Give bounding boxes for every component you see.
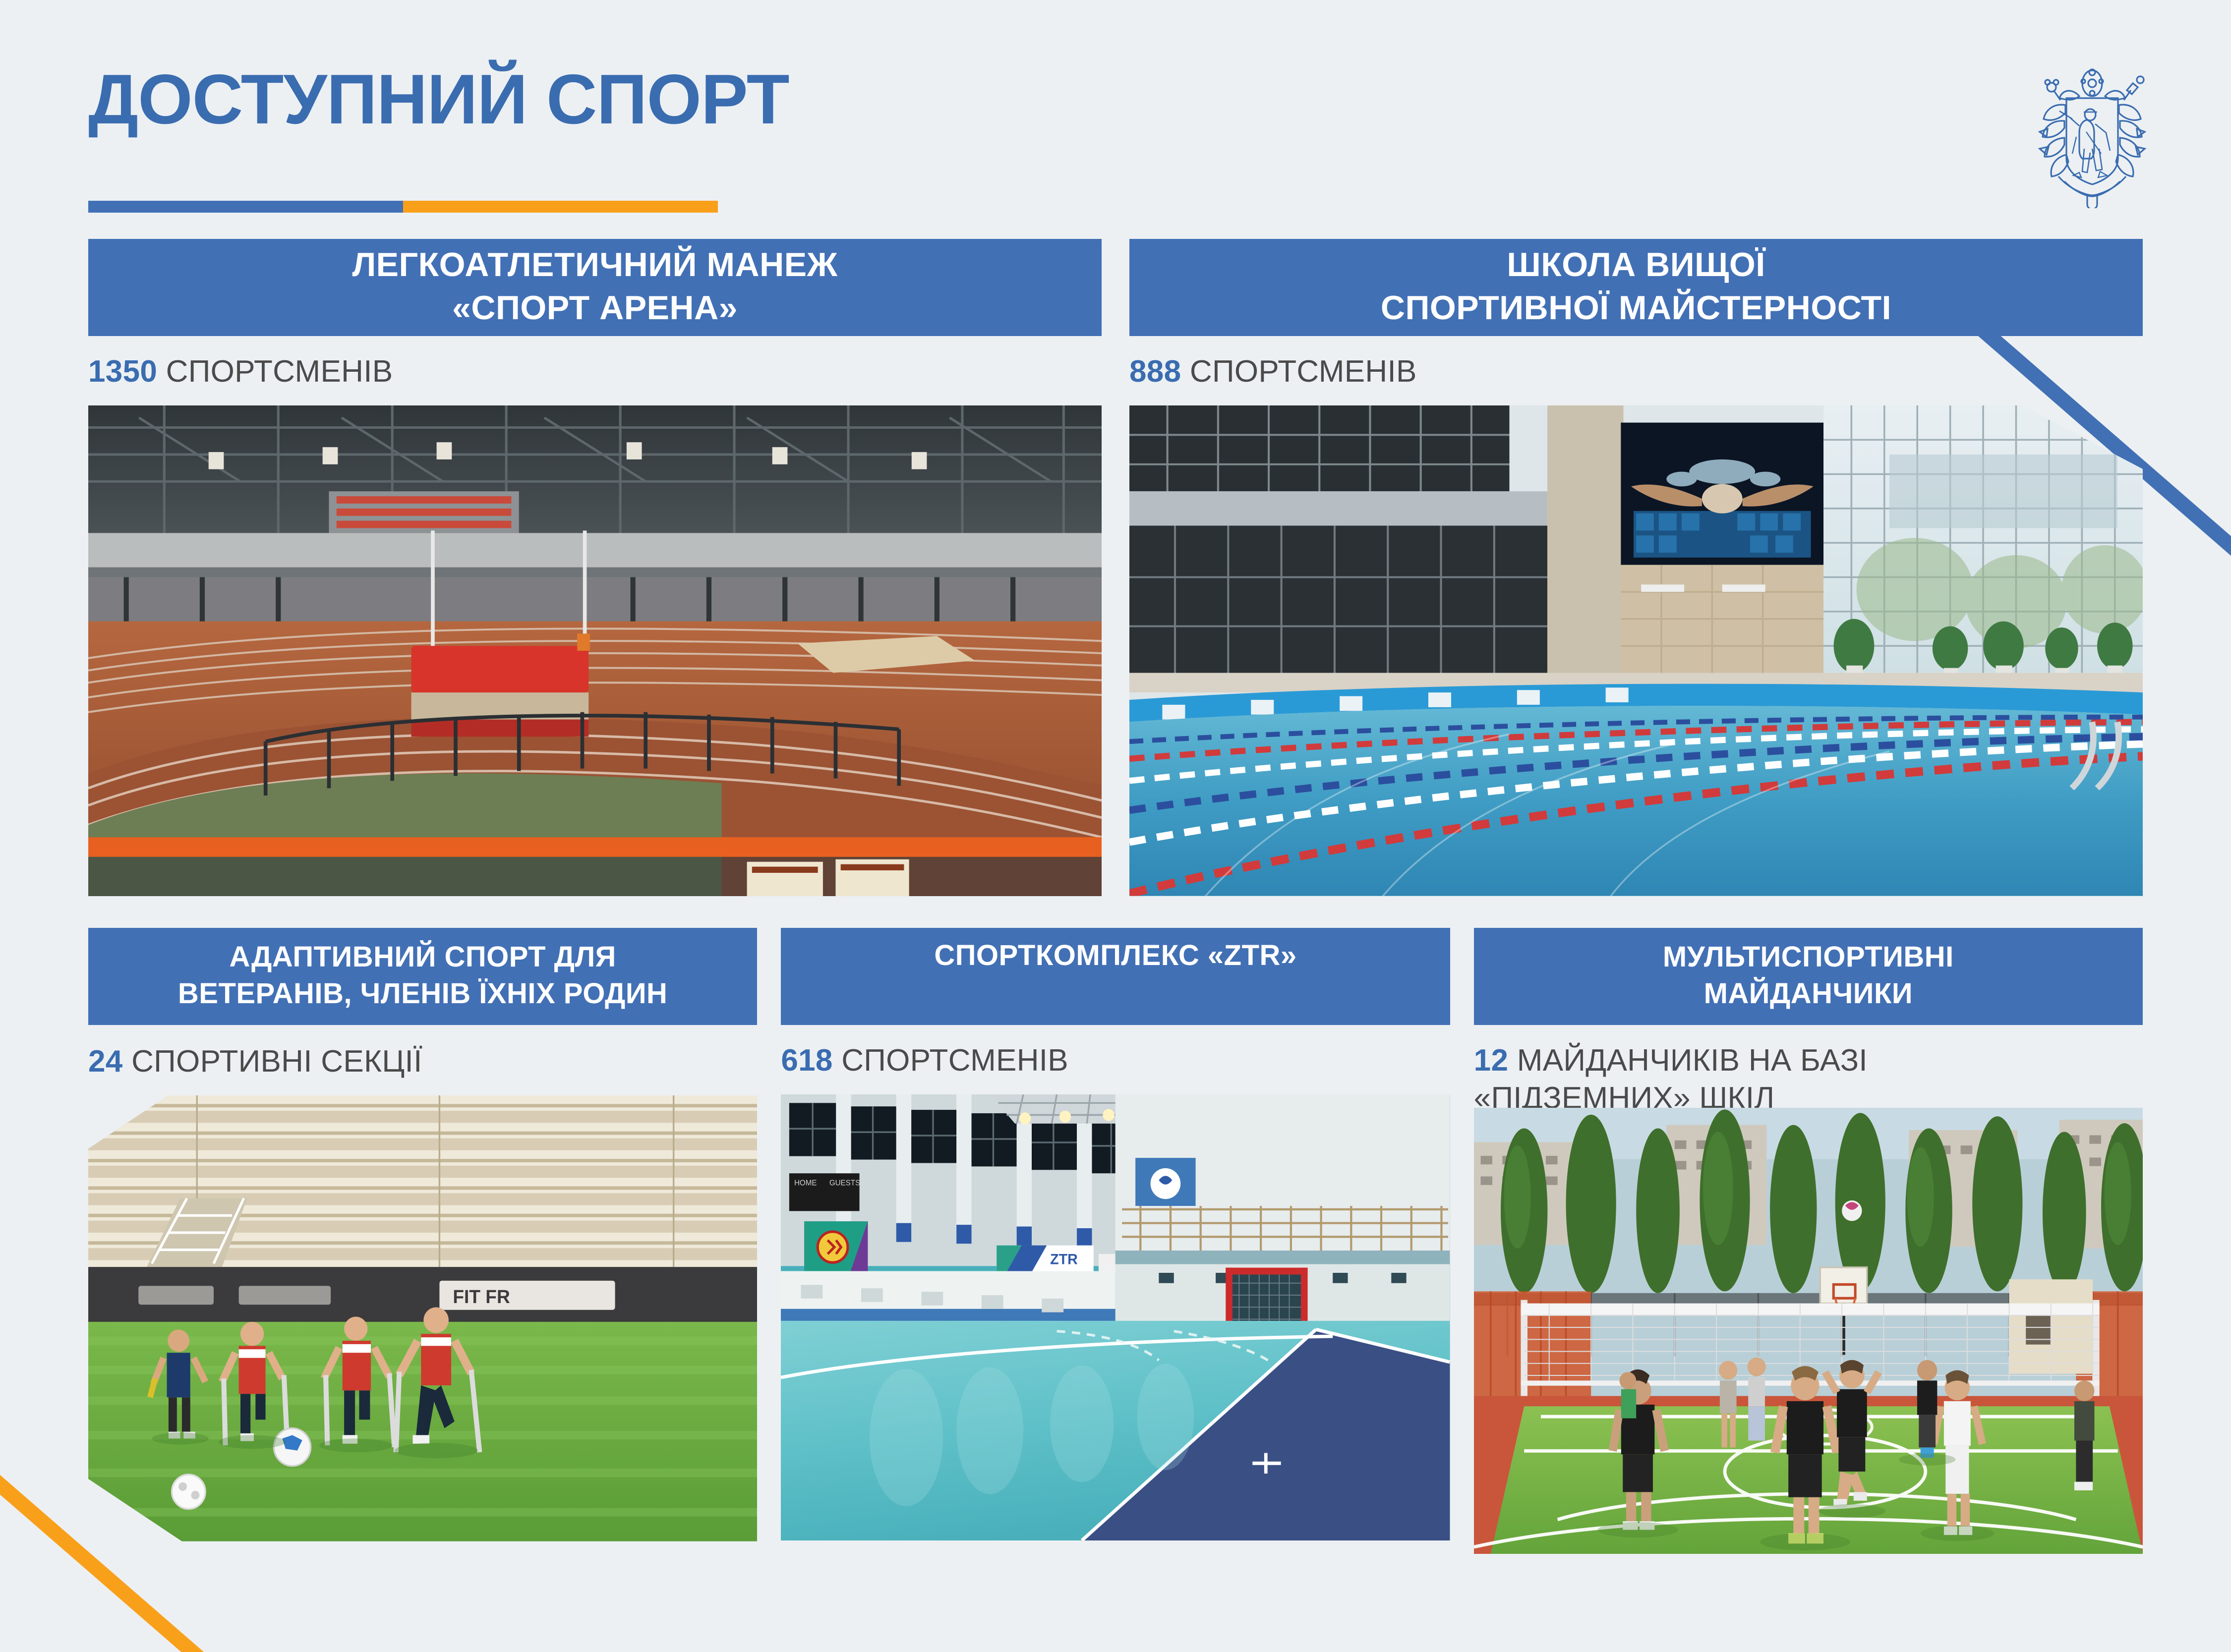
card-stat-multisport-playgrounds: 12 МАЙДАНЧИКІВ НА БАЗІ «ПІДЗЕМНИХ» ШКІЛ xyxy=(1474,1042,2143,1117)
card-sports-school[interactable]: ШКОЛА ВИЩОЇ СПОРТИВНОЇ МАЙСТЕРНОСТІ 888 … xyxy=(1129,239,2143,896)
card-title-line-2: СПОРТИВНОЇ МАЙСТЕРНОСТІ xyxy=(1381,286,1891,330)
card-title-line-1: ШКОЛА ВИЩОЇ xyxy=(1507,243,1765,286)
facilities-row-bottom: АДАПТИВНИЙ СПОРТ ДЛЯ ВЕТЕРАНІВ, ЧЛЕНІВ Ї… xyxy=(88,928,2143,1554)
card-multisport-playgrounds[interactable]: МУЛЬТИСПОРТИВНІ МАЙДАНЧИКИ 12 МАЙДАНЧИКІ… xyxy=(1474,928,2143,1554)
underline-orange-segment xyxy=(403,201,718,213)
card-header-ztr-complex: СПОРТКОМПЛЕКС «ZTR» xyxy=(781,928,1450,1025)
photo-adaptive-football: FIT FR xyxy=(88,1095,757,1541)
card-header-adaptive-sport: АДАПТИВНИЙ СПОРТ ДЛЯ ВЕТЕРАНІВ, ЧЛЕНІВ Ї… xyxy=(88,928,757,1025)
card-ztr-complex[interactable]: СПОРТКОМПЛЕКС «ZTR» 618 СПОРТСМЕНІВ xyxy=(781,928,1450,1554)
stat-label: СПОРТСМЕНІВ xyxy=(1190,354,1417,389)
coat-of-arms-icon xyxy=(2028,59,2157,208)
photo-swimming-pool xyxy=(1129,405,2143,896)
stat-number: 1350 xyxy=(88,354,157,389)
photo-sports-hall: HOMEGUESTS ZTR xyxy=(781,1094,1450,1540)
svg-text:FIT FR: FIT FR xyxy=(453,1286,510,1307)
card-stat-ztr-complex: 618 СПОРТСМЕНІВ xyxy=(781,1042,1450,1080)
title-underline xyxy=(88,201,718,213)
stat-label: СПОРТСМЕНІВ xyxy=(166,354,393,389)
photo-multisport-playground xyxy=(1474,1108,2143,1554)
card-title-line-2: МАЙДАНЧИКИ xyxy=(1704,975,1913,1012)
svg-text:ZTR: ZTR xyxy=(1050,1252,1078,1267)
stat-number: 888 xyxy=(1129,354,1181,389)
svg-text:GUESTS: GUESTS xyxy=(829,1179,860,1187)
card-title-line-2: ВЕТЕРАНІВ, ЧЛЕНІВ ЇХНІХ РОДИН xyxy=(178,975,668,1012)
card-stat-sports-school: 888 СПОРТСМЕНІВ xyxy=(1129,353,2143,391)
slide-root: ДОСТУПНИЙ СПОРТ xyxy=(0,0,2231,1652)
stat-number: 618 xyxy=(781,1043,832,1078)
card-title-line-1: МУЛЬТИСПОРТИВНІ xyxy=(1663,939,1954,975)
card-adaptive-sport[interactable]: АДАПТИВНИЙ СПОРТ ДЛЯ ВЕТЕРАНІВ, ЧЛЕНІВ Ї… xyxy=(88,928,757,1554)
card-header-multisport-playgrounds: МУЛЬТИСПОРТИВНІ МАЙДАНЧИКИ xyxy=(1474,928,2143,1025)
stat-number: 12 xyxy=(1474,1043,1509,1078)
underline-blue-segment xyxy=(88,201,403,213)
card-title-line-1: ЛЕГКОАТЛЕТИЧНИЙ МАНЕЖ xyxy=(352,243,837,286)
stat-label: СПОРТИВНІ СЕКЦІЇ xyxy=(131,1044,422,1079)
page-header: ДОСТУПНИЙ СПОРТ xyxy=(88,64,2146,223)
card-title-line-1: СПОРТКОМПЛЕКС «ZTR» xyxy=(934,937,1296,974)
stat-number: 24 xyxy=(88,1044,123,1079)
stat-label: МАЙДАНЧИКІВ НА БАЗІ xyxy=(1517,1043,1868,1078)
page-title: ДОСТУПНИЙ СПОРТ xyxy=(88,64,2146,135)
facilities-row-top: ЛЕГКОАТЛЕТИЧНИЙ МАНЕЖ «СПОРТ АРЕНА» 1350… xyxy=(88,239,2143,896)
card-title-line-1: АДАПТИВНИЙ СПОРТ ДЛЯ xyxy=(229,939,616,975)
photo-athletics-arena xyxy=(88,405,1102,896)
card-header-sports-school: ШКОЛА ВИЩОЇ СПОРТИВНОЇ МАЙСТЕРНОСТІ xyxy=(1129,239,2143,336)
card-athletics-arena[interactable]: ЛЕГКОАТЛЕТИЧНИЙ МАНЕЖ «СПОРТ АРЕНА» 1350… xyxy=(88,239,1102,896)
card-stat-athletics-arena: 1350 СПОРТСМЕНІВ xyxy=(88,353,1102,391)
svg-text:HOME: HOME xyxy=(794,1179,817,1187)
card-title-line-2: «СПОРТ АРЕНА» xyxy=(452,286,738,330)
card-stat-adaptive-sport: 24 СПОРТИВНІ СЕКЦІЇ xyxy=(88,1043,757,1081)
stat-label: СПОРТСМЕНІВ xyxy=(841,1043,1068,1078)
card-header-athletics-arena: ЛЕГКОАТЛЕТИЧНИЙ МАНЕЖ «СПОРТ АРЕНА» xyxy=(88,239,1102,336)
